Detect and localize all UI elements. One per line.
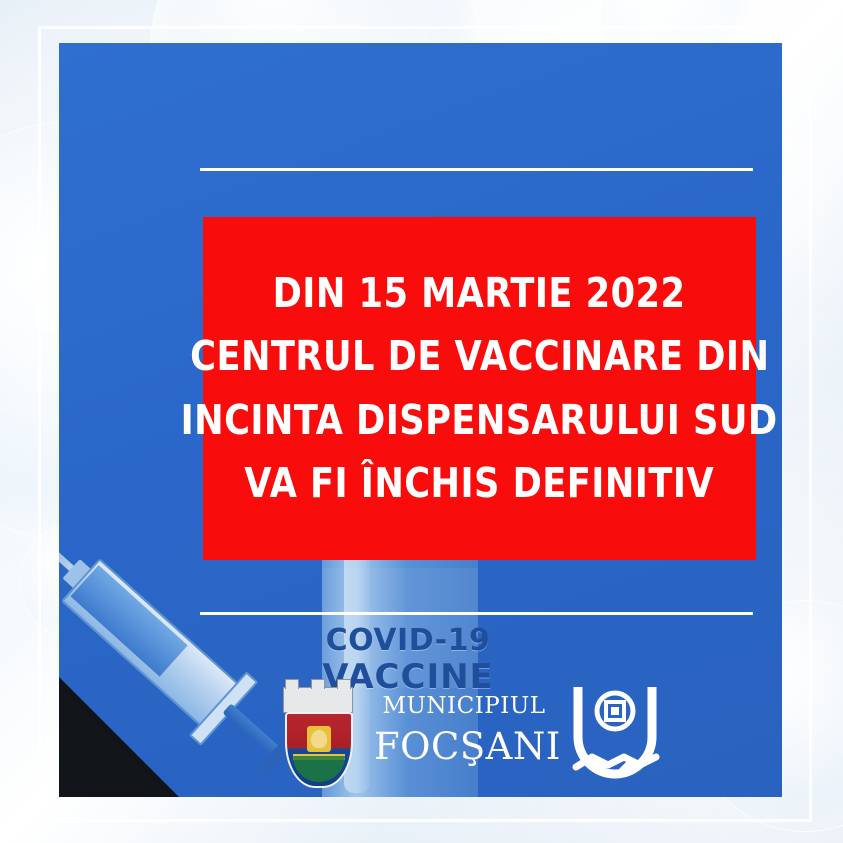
headline-banner: DIN 15 MARTIE 2022 CENTRUL DE VACCINARE … [203,217,756,560]
divider-top [200,168,753,171]
vaccine-wordmark-line-1: COVID-19 [318,626,498,656]
headline-line-1: DIN 15 MARTIE 2022 [273,272,686,315]
headline-line-2: CENTRUL DE VACCINARE DIN [190,335,769,378]
poster-canvas: DIN 15 MARTIE 2022 CENTRUL DE VACCINARE … [0,0,843,843]
announcement-card: DIN 15 MARTIE 2022 CENTRUL DE VACCINARE … [59,43,782,797]
decorative-shard [59,677,179,797]
handshake-u-logo-icon [562,681,668,791]
headline-line-4: VA FI ÎNCHIS DEFINITIV [245,462,715,505]
municipality-line-1: MUNICIPIUL [374,693,554,719]
municipality-line-2: FOCŞANI [374,725,554,768]
branding-row: MUNICIPIUL FOCŞANI [274,675,674,795]
divider-bottom [200,612,753,615]
headline-line-3: INCINTA DISPENSARULUI SUD [181,399,778,442]
coat-of-arms-icon [274,687,360,789]
municipality-name: MUNICIPIUL FOCŞANI [374,693,554,768]
